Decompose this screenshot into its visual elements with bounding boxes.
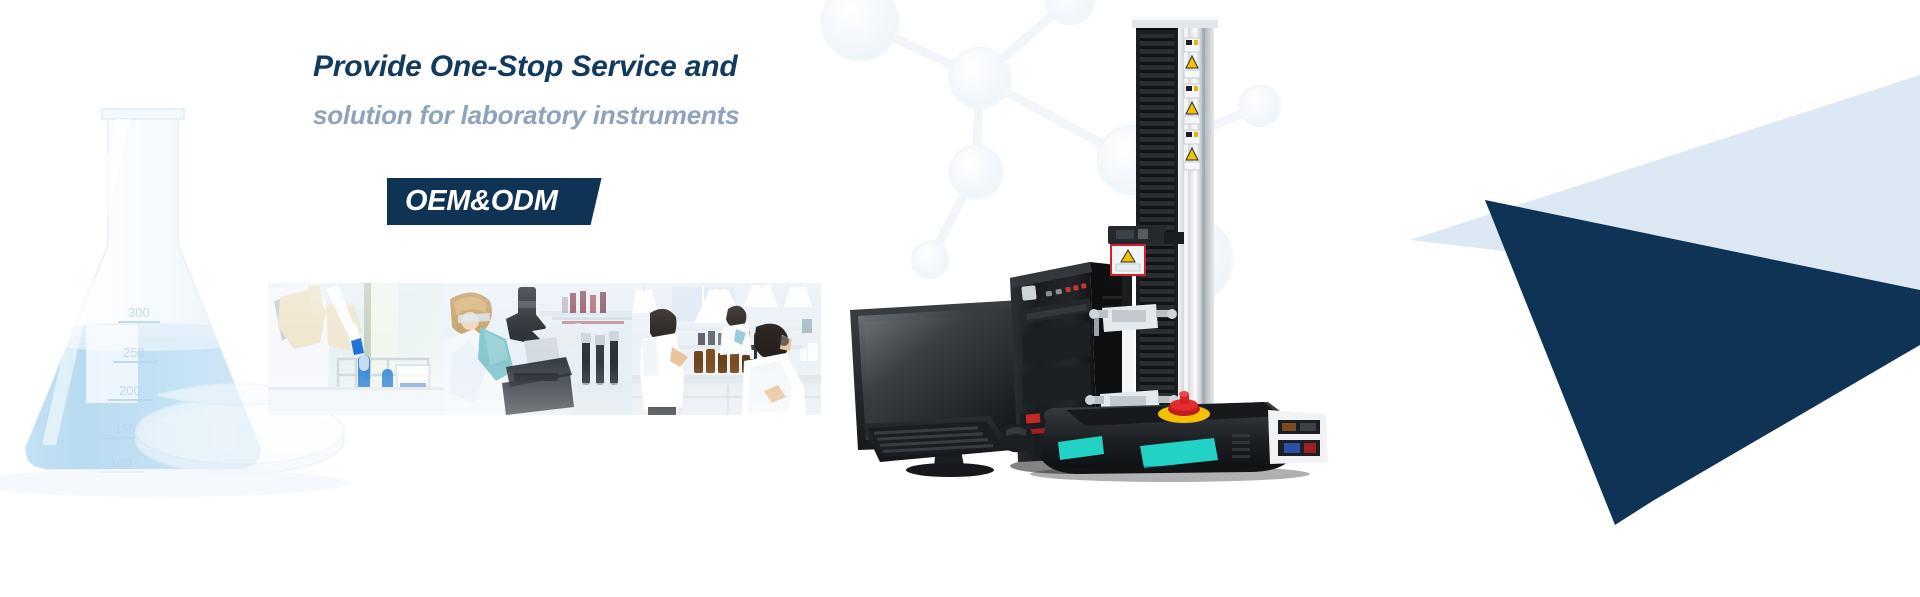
svg-text:100: 100 <box>110 455 132 470</box>
molecule-watermark <box>740 0 1300 290</box>
desktop-tower-pc: lenovo <box>1010 262 1134 474</box>
headline-line-1: Provide One-Stop Service and <box>313 52 1133 82</box>
triangle-dark <box>1485 200 1920 520</box>
headline-block: Provide One-Stop Service and solution fo… <box>313 52 1133 128</box>
photo-pipetting-test-tubes <box>268 283 444 415</box>
triangle-light <box>1410 75 1920 300</box>
svg-text:lenovo: lenovo <box>1045 412 1072 424</box>
oem-odm-badge-label: OEM&ODM <box>405 185 558 218</box>
promo-banner: 300 250 200 150 100 Provide One-Stop Ser… <box>0 0 1920 597</box>
emergency-stop-button <box>1158 391 1210 423</box>
headline-line-2: solution for laboratory instruments <box>313 102 1133 128</box>
warning-labels <box>1184 38 1200 170</box>
photo-laboratory-bench <box>632 283 821 415</box>
svg-text:250: 250 <box>123 345 145 360</box>
svg-text:200: 200 <box>119 383 141 398</box>
photo-microscope-researcher <box>444 283 632 415</box>
decorative-triangles <box>1160 0 1920 597</box>
triangle-dark-tail <box>1485 200 1920 525</box>
svg-text:300: 300 <box>128 305 150 320</box>
svg-text:150: 150 <box>114 421 136 436</box>
panel-glow <box>1058 436 1218 468</box>
lab-photo-strip <box>268 283 821 415</box>
lcd-monitor <box>850 300 1030 477</box>
keyboard <box>862 416 1012 462</box>
oem-odm-badge: OEM&ODM <box>387 178 602 225</box>
mouse <box>1002 424 1033 452</box>
